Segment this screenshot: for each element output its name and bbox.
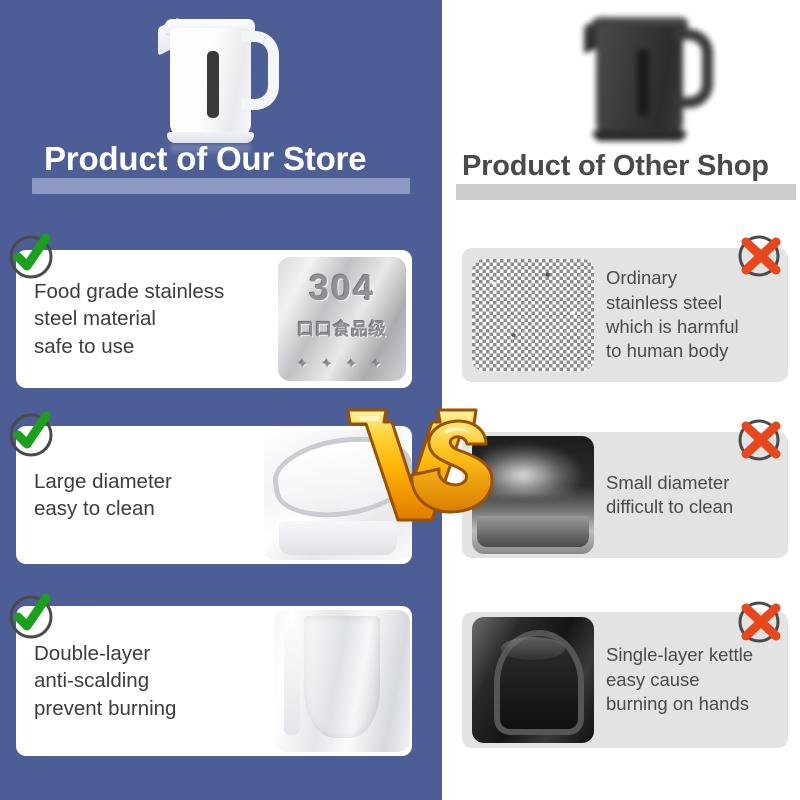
- check-circle-icon: [6, 592, 56, 642]
- feature-card-left-3[interactable]: Double-layer anti-scalding prevent burni…: [16, 606, 412, 756]
- feature-text: Small diameter difficult to clean: [594, 471, 774, 520]
- right-panel-title: Product of Other Shop: [462, 150, 769, 183]
- grade-stars-label: ✦ ✦ ✦ ✦: [278, 356, 406, 372]
- grade-mark-label: 口口食品级: [278, 315, 406, 340]
- cross-circle-icon: [736, 414, 786, 464]
- feature-text: Food grade stainless steel material safe…: [34, 278, 278, 359]
- stainless-304-marking-photo: 304 口口食品级 ✦ ✦ ✦ ✦: [278, 257, 406, 381]
- kettle-water-window: [207, 51, 218, 118]
- right-title-underline: [456, 184, 796, 200]
- right-title-block: Product of Other Shop: [442, 148, 800, 208]
- left-panel-title: Product of Our Store: [44, 140, 366, 178]
- kettle-handle: [242, 31, 278, 109]
- wide-mouth-kettle-opening-photo: [264, 430, 412, 560]
- feature-text: Double-layer anti-scalding prevent burni…: [34, 640, 274, 721]
- narrow-opening-steam-photo: [472, 436, 594, 554]
- rough-stainless-texture-photo: [472, 259, 594, 371]
- left-title-block: Product of Our Store: [0, 140, 442, 204]
- feature-text: Large diameter easy to clean: [34, 468, 264, 522]
- white-electric-kettle-icon: [150, 6, 290, 146]
- feature-text: Ordinary stainless steel which is harmfu…: [594, 266, 774, 364]
- cross-circle-icon: [736, 230, 786, 280]
- check-circle-icon: [6, 232, 56, 282]
- feature-card-left-2[interactable]: Large diameter easy to clean: [16, 426, 412, 564]
- kettle-water-window: [637, 49, 649, 116]
- single-wall-black-kettle-photo: [472, 617, 594, 743]
- cross-circle-icon: [736, 596, 786, 646]
- comparison-infographic: Product of Our Store Product of Other Sh…: [0, 0, 800, 800]
- grade-number-label: 304: [278, 267, 406, 309]
- feature-text: Single-layer kettle easy cause burning o…: [594, 643, 774, 716]
- kettle-base: [593, 130, 686, 141]
- kettle-handle: [674, 29, 713, 107]
- left-title-underline: [32, 178, 410, 194]
- feature-card-left-1[interactable]: Food grade stainless steel material safe…: [16, 250, 412, 388]
- check-circle-icon: [6, 410, 56, 460]
- double-wall-kettle-body-photo: [274, 610, 410, 752]
- black-electric-kettle-icon: [575, 4, 725, 144]
